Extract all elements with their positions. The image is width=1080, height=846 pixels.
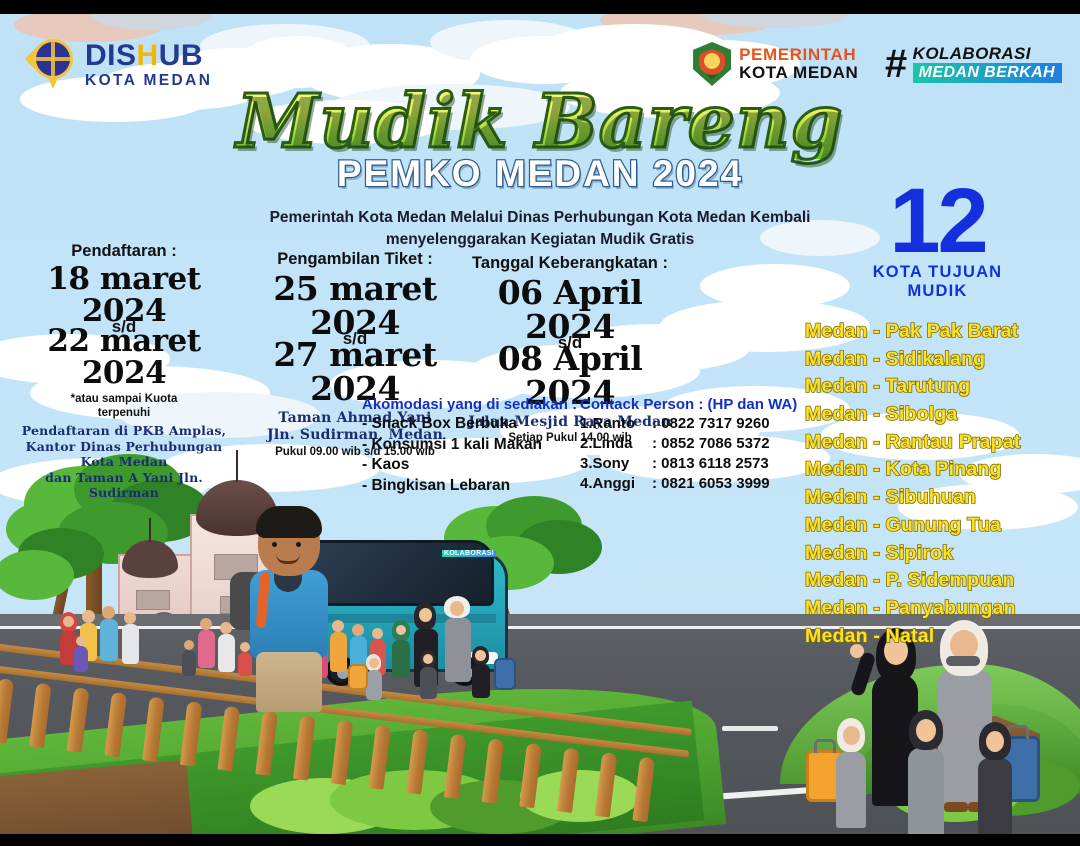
schedule-registration: Pendaftaran : 18 maret 2024 s/d 22 maret…: [10, 242, 238, 501]
destination-label-line1: KOTA TUJUAN: [795, 263, 1080, 282]
poster-canvas: KOLABORASI: [0, 0, 1080, 846]
suitcase-blue-small: [494, 658, 516, 690]
bus-illustration: KOLABORASI: [300, 534, 512, 684]
dishub-wordmark: DISHUB: [85, 41, 212, 71]
destination-label: KOTA TUJUAN MUDIK: [795, 263, 1080, 301]
accommodation-item: - Bingkisan Lebaran: [362, 476, 577, 497]
schedule-venue-line2: Kantor Dinas Perhubungan Kota Medan: [10, 439, 238, 470]
destination-route: Medan - Panyabungan: [805, 595, 1080, 623]
destination-route: Medan - Natal: [805, 623, 1080, 651]
hashtag-icon: #: [884, 47, 906, 81]
destination-count: 12: [795, 182, 1080, 261]
contact-name: 1.Ranto: [580, 414, 652, 434]
schedule-note: *atau sampai Kuota terpenuhi: [10, 393, 238, 419]
contact-row[interactable]: 2.Linda : 0852 7086 5372: [580, 434, 797, 454]
suitcase-orange: [806, 750, 844, 802]
poster-stage: KOLABORASI: [0, 14, 1080, 834]
letterbox-bottom: [0, 834, 1080, 846]
man-with-backpack: [228, 510, 338, 710]
contact-heading: Contack Person : (HP dan WA): [580, 396, 797, 413]
destination-route: Medan - Sipirok: [805, 540, 1080, 568]
contact-phone: : 0821 6053 3999: [652, 474, 770, 494]
schedule-heading: Tanggal Keberangkatan :: [452, 254, 688, 273]
pemerintah-logo: PEMERINTAH KOTA MEDAN: [693, 42, 858, 86]
contact-row[interactable]: 1.Ranto : 0822 7317 9260: [580, 414, 797, 434]
globe-pin-icon: [30, 38, 76, 92]
destination-route: Medan - Sidikalang: [805, 346, 1080, 374]
schedule-heading: Pendaftaran :: [10, 242, 238, 261]
schedule-venue-line3: dan Taman A Yani Jln. Sudirman: [10, 470, 238, 501]
contact-phone: : 0822 7317 9260: [652, 414, 770, 434]
destination-route: Medan - Kota Pinang: [805, 456, 1080, 484]
partner-logos: PEMERINTAH KOTA MEDAN # KOLABORASI MEDAN…: [693, 42, 1062, 86]
accommodation-item: - Kaos: [362, 455, 577, 476]
poster-title: Mudik Bareng: [0, 86, 1080, 159]
wooden-fence: [0, 622, 695, 826]
destination-route: Medan - Pak Pak Barat: [805, 318, 1080, 346]
accommodation-item: - Snack Box Berbuka: [362, 414, 577, 435]
accommodation-heading: Akomodasi yang di sediakan :: [362, 396, 577, 413]
contact-name: 3.Sony: [580, 454, 652, 474]
contact-name: 4.Anggi: [580, 474, 652, 494]
schedule-heading: Pengambilan Tiket :: [240, 250, 470, 269]
pemerintah-line1: PEMERINTAH: [739, 46, 858, 64]
dishub-logo: DISHUB KOTA MEDAN: [30, 38, 212, 92]
pemerintah-line2: KOTA MEDAN: [739, 64, 858, 82]
contact-row[interactable]: 4.Anggi : 0821 6053 3999: [580, 474, 797, 494]
suitcase-orange-small: [348, 664, 368, 690]
contact-phone: : 0852 7086 5372: [652, 434, 770, 454]
schedule-date-to: 22 maret 2024: [10, 326, 238, 389]
road: [0, 626, 1080, 834]
kolaborasi-line1: KOLABORASI: [913, 45, 1062, 63]
suitcase-blue: [996, 736, 1040, 802]
kolaborasi-line2: MEDAN BERKAH: [913, 63, 1062, 83]
destination-route: Medan - Rantau Prapat: [805, 429, 1080, 457]
destination-route: Medan - P. Sidempuan: [805, 567, 1080, 595]
schedule-venue: Pendaftaran di PKB Amplas, Kantor Dinas …: [10, 423, 238, 501]
kolaborasi-logo: # KOLABORASI MEDAN BERKAH: [884, 45, 1062, 84]
contact-name: 2.Linda: [580, 434, 652, 454]
destination-route: Medan - Sibuhuan: [805, 484, 1080, 512]
accommodation-block: Akomodasi yang di sediakan : - Snack Box…: [362, 396, 577, 496]
contact-phone: : 0813 6118 2573: [652, 454, 769, 474]
destination-route: Medan - Gunung Tua: [805, 512, 1080, 540]
schedule-venue-line1: Pendaftaran di PKB Amplas,: [10, 423, 238, 439]
destination-route: Medan - Sibolga: [805, 401, 1080, 429]
destinations-panel: 12 KOTA TUJUAN MUDIK Medan - Pak Pak Bar…: [795, 182, 1080, 650]
destination-list: Medan - Pak Pak Barat Medan - Sidikalang…: [795, 318, 1080, 650]
destination-route: Medan - Tarutung: [805, 373, 1080, 401]
destination-label-line2: MUDIK: [795, 282, 1080, 301]
letterbox-top: [0, 0, 1080, 14]
contact-block: Contack Person : (HP dan WA) 1.Ranto : 0…: [580, 396, 797, 494]
contact-row[interactable]: 3.Sony : 0813 6118 2573: [580, 454, 797, 474]
dishub-subtitle: KOTA MEDAN: [85, 73, 212, 89]
heritage-building: [118, 484, 348, 674]
city-crest-icon: [693, 42, 731, 86]
accommodation-item: - Konsumsi 1 kali Makan: [362, 435, 577, 456]
